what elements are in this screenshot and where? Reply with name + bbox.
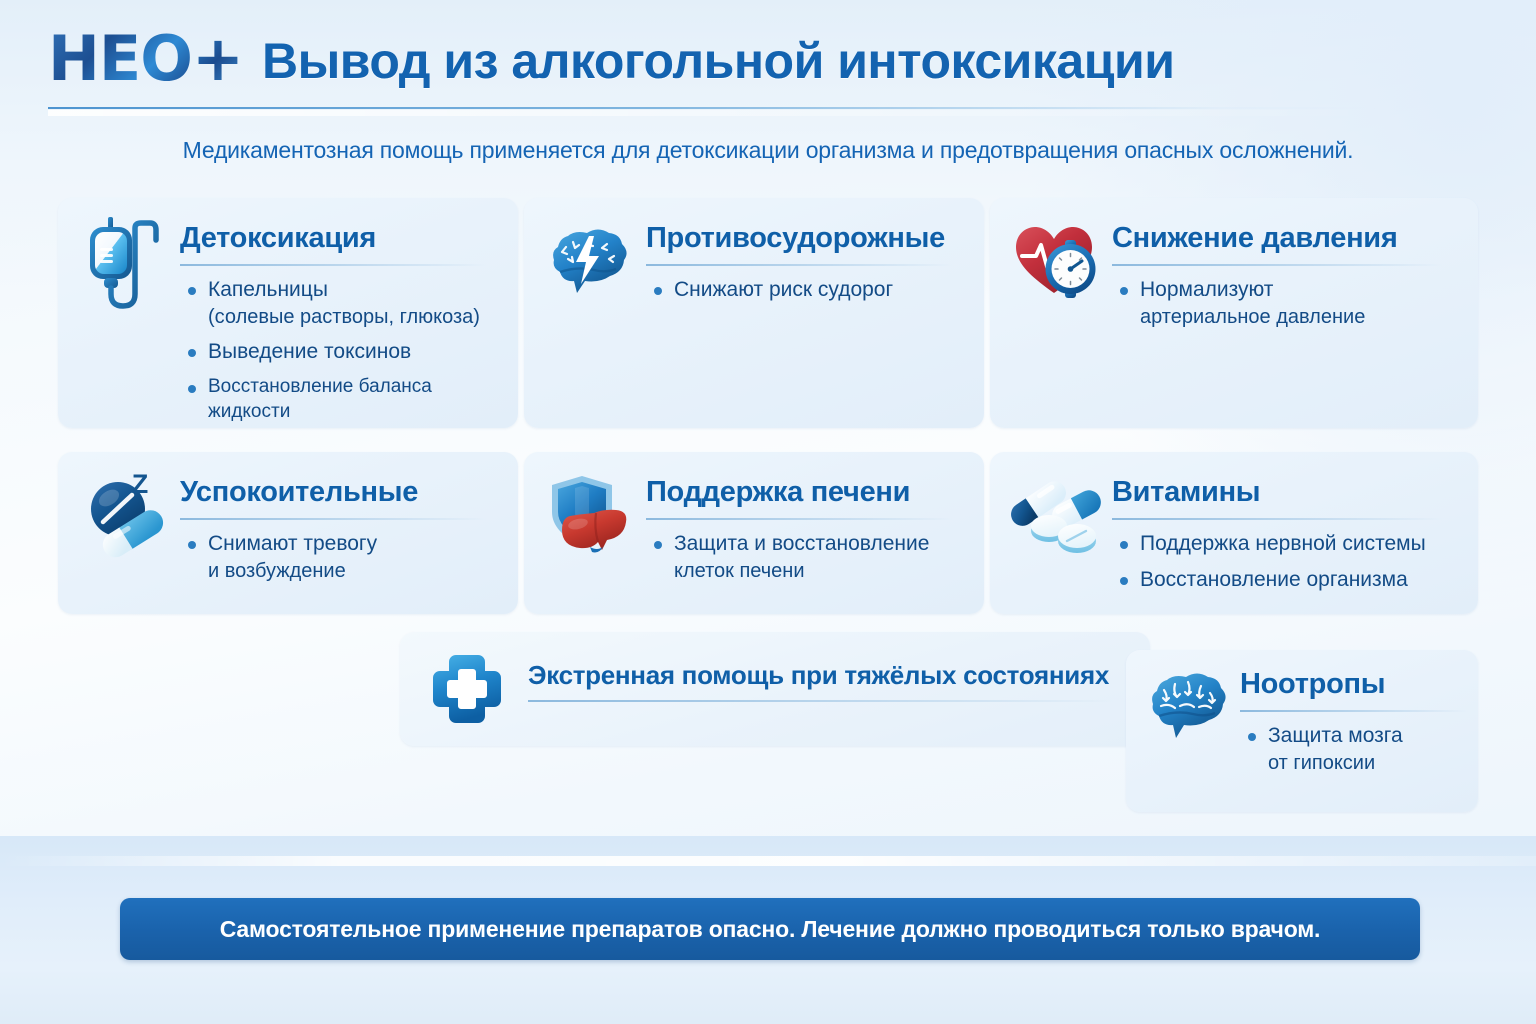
heart-pressure-gauge-icon: [1010, 214, 1106, 310]
list-item-text: Нормализуют: [1140, 278, 1273, 301]
list-item-subtext: клеток печени: [674, 558, 929, 584]
list-item-text: Защита мозга: [1268, 724, 1403, 747]
header-divider-glow: [48, 110, 1378, 116]
card-sedatives: Z Успокоительные Снимают тревогу и возбу…: [58, 452, 518, 614]
card-blood-pressure: Снижение давления Нормализуют артериальн…: [990, 198, 1478, 428]
list-item-text: Поддержка нервной системы: [1140, 532, 1426, 555]
list-item: Капельницы (солевые растворы, глюкоза): [186, 276, 518, 330]
list-item-text: Капельницы: [208, 278, 328, 301]
list-item-text: Восстановление организма: [1140, 568, 1408, 591]
footer-highlight-streak: [0, 856, 1536, 866]
list-item-text: Снижают риск судорог: [674, 278, 893, 301]
card-title-divider: [1240, 710, 1468, 712]
list-item-subtext: от гипоксии: [1268, 750, 1403, 776]
page-header: НЕО+ Вывод из алкогольной интоксикации: [0, 0, 1536, 112]
emergency-help-banner: Экстренная помощь при тяжёлых состояниях: [400, 632, 1150, 746]
card-title-divider: [180, 518, 486, 520]
warning-banner: Самостоятельное применение препаратов оп…: [120, 898, 1420, 960]
pill-sleep-icon: Z: [78, 468, 174, 564]
list-item: Защита и восстановление клеток печени: [652, 530, 929, 584]
card-title: Витамины: [1112, 476, 1260, 509]
list-item: Нормализуют артериальное давление: [1118, 276, 1365, 330]
card-nootropics: Ноотропы Защита мозга от гипоксии: [1126, 650, 1478, 812]
card-anticonvulsants: Противосудорожные Снижают риск судорог: [524, 198, 984, 428]
emergency-divider: [528, 700, 1118, 702]
card-title-divider: [646, 264, 952, 266]
card-bullet-list: Защита мозга от гипоксии: [1246, 722, 1403, 784]
list-item-text: Снимают тревогу: [208, 532, 377, 555]
brain-lightning-icon: [544, 214, 640, 310]
medical-cross-icon: [430, 652, 504, 726]
warning-text: Самостоятельное применение препаратов оп…: [220, 916, 1321, 943]
list-item: Восстановление организма: [1118, 566, 1426, 594]
iv-drip-icon: [78, 214, 174, 310]
list-item-subtext: (солевые растворы, глюкоза): [208, 304, 518, 330]
list-item-text: Восстановление баланса жидкости: [208, 376, 432, 422]
card-title: Ноотропы: [1240, 668, 1385, 701]
card-bullet-list: Капельницы (солевые растворы, глюкоза) В…: [186, 276, 518, 432]
card-title: Поддержка печени: [646, 476, 910, 509]
card-title-divider: [1112, 518, 1442, 520]
card-bullet-list: Снимают тревогу и возбуждение: [186, 530, 377, 592]
list-item: Выведение токсинов: [186, 338, 518, 366]
list-item-text: Защита и восстановление: [674, 532, 929, 555]
card-bullet-list: Защита и восстановление клеток печени: [652, 530, 929, 592]
card-title-divider: [1112, 264, 1442, 266]
card-bullet-list: Снижают риск судорог: [652, 276, 893, 312]
list-item-text: Выведение токсинов: [208, 340, 411, 363]
shield-liver-icon: [544, 468, 640, 564]
brand-logo: НЕО+: [48, 28, 243, 90]
card-title: Противосудорожные: [646, 222, 945, 255]
list-item: Снимают тревогу и возбуждение: [186, 530, 377, 584]
card-liver-support: Поддержка печени Защита и восстановление…: [524, 452, 984, 614]
svg-text:Z: Z: [132, 469, 149, 499]
card-title: Снижение давления: [1112, 222, 1397, 255]
brain-neural-icon: [1144, 660, 1236, 752]
list-item: Поддержка нервной системы: [1118, 530, 1426, 558]
card-title: Успокоительные: [180, 476, 418, 509]
list-item: Восстановление баланса жидкости: [186, 374, 518, 424]
card-bullet-list: Поддержка нервной системы Восстановление…: [1118, 530, 1426, 601]
emergency-title: Экстренная помощь при тяжёлых состояниях: [528, 660, 1109, 691]
card-detoxification: Детоксикация Капельницы (солевые раствор…: [58, 198, 518, 428]
page-title: Вывод из алкогольной интоксикации: [262, 32, 1174, 90]
list-item-subtext: и возбуждение: [208, 558, 377, 584]
header-divider: [48, 107, 1378, 109]
pills-capsules-icon: [1010, 468, 1106, 564]
list-item-subtext: артериальное давление: [1140, 304, 1365, 330]
card-title-divider: [646, 518, 952, 520]
page-subtitle: Медикаментозная помощь применяется для д…: [0, 137, 1536, 164]
list-item: Защита мозга от гипоксии: [1246, 722, 1403, 776]
card-title-divider: [180, 264, 486, 266]
card-title: Детоксикация: [180, 222, 376, 255]
card-vitamins: Витамины Поддержка нервной системы Восст…: [990, 452, 1478, 614]
list-item: Снижают риск судорог: [652, 276, 893, 304]
card-bullet-list: Нормализуют артериальное давление: [1118, 276, 1365, 338]
